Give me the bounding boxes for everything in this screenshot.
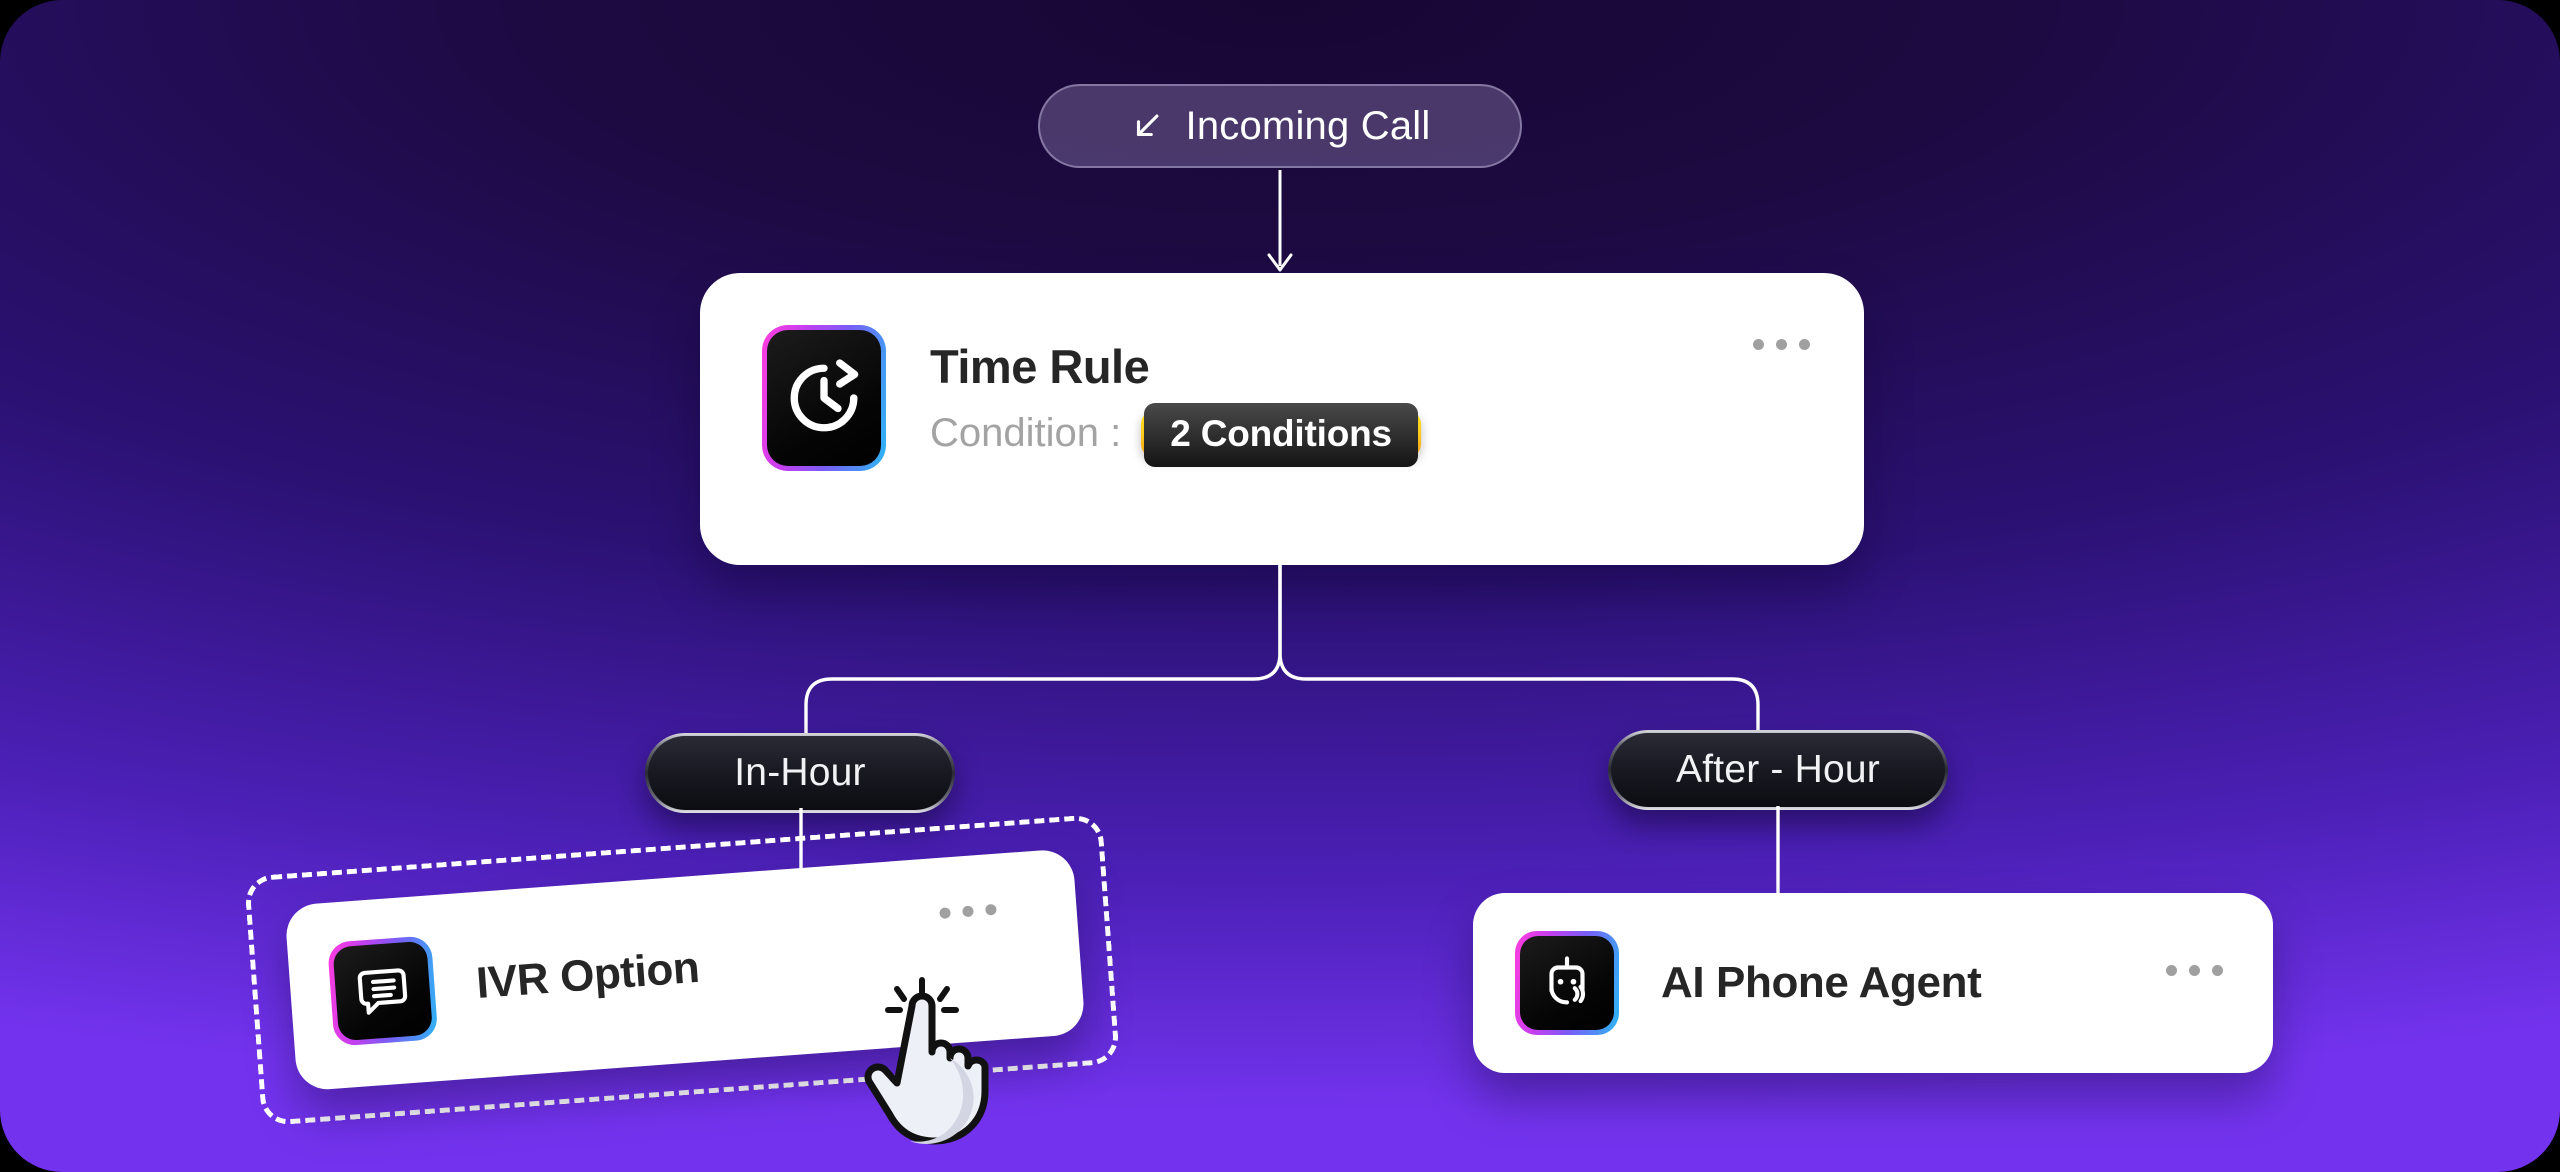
ai-phone-agent-title: AI Phone Agent xyxy=(1661,958,1981,1008)
incoming-call-label: Incoming Call xyxy=(1186,104,1431,149)
node-card-time-rule[interactable]: Time Rule Condition : 2 Conditions xyxy=(700,273,1864,565)
ivr-option-more-icon[interactable] xyxy=(939,904,997,919)
ivr-option-title: IVR Option xyxy=(475,943,701,1009)
connector-trigger-to-time-rule xyxy=(1240,170,1320,280)
message-lines-icon xyxy=(327,935,438,1046)
clock-history-icon xyxy=(762,325,886,471)
connector-after-hour-to-ai-agent xyxy=(1763,806,1793,906)
time-rule-title: Time Rule xyxy=(930,339,1421,394)
robot-head-icon xyxy=(1515,931,1619,1035)
incoming-call-trigger[interactable]: Incoming Call xyxy=(1038,84,1522,168)
node-ivr-option-group: IVR Option xyxy=(244,814,1120,1126)
conditions-badge[interactable]: 2 Conditions xyxy=(1141,410,1421,458)
branch-pill-after-hour[interactable]: After - Hour xyxy=(1608,730,1948,810)
conditions-badge-label: 2 Conditions xyxy=(1144,403,1418,467)
node-card-ai-phone-agent[interactable]: AI Phone Agent xyxy=(1473,893,2273,1073)
branch-label-after-hour: After - Hour xyxy=(1676,748,1880,792)
ai-phone-agent-more-icon[interactable] xyxy=(2166,965,2223,976)
flow-canvas: Incoming Call Time Rule C xyxy=(0,0,2560,1172)
condition-label: Condition : xyxy=(930,411,1121,456)
branch-pill-in-hour[interactable]: In-Hour xyxy=(645,733,955,813)
time-rule-more-icon[interactable] xyxy=(1753,339,1810,350)
branch-label-in-hour: In-Hour xyxy=(734,751,865,795)
arrow-down-left-icon xyxy=(1130,109,1164,143)
